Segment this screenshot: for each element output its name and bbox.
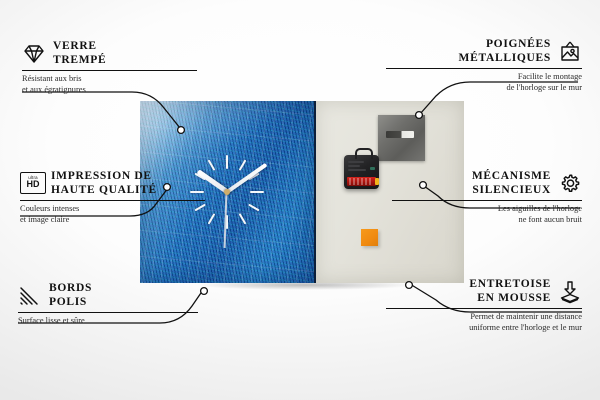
feature-title: BORDS POLIS [49, 282, 92, 309]
feature-divider [20, 200, 205, 201]
aa-battery [347, 177, 376, 186]
arrow-down-onto-pad-icon [558, 280, 582, 304]
feature-divider [392, 200, 582, 201]
diagonal-stripes-icon [18, 284, 42, 308]
feature-description: Facilite le montage de l'horloge sur le … [386, 72, 582, 93]
feature-bords-polis: BORDS POLIS Surface lisse et sûre [18, 282, 198, 327]
diamond-icon [22, 42, 46, 66]
foam-spacer [361, 229, 378, 246]
mechanism-detail [348, 165, 360, 167]
clock-minute-hand [226, 163, 268, 194]
feature-description: Les aiguilles de l'horloge ne font aucun… [392, 204, 582, 225]
clock-tick [208, 159, 247, 224]
clock-tick [208, 159, 247, 224]
feature-divider [22, 70, 197, 71]
clock-center-hub [224, 189, 230, 195]
feature-divider [386, 308, 582, 309]
mechanism-label-chip [370, 167, 375, 170]
feature-title: POIGNÉES MÉTALLIQUES [459, 38, 551, 65]
feature-divider [386, 68, 582, 69]
feature-title: ENTRETOISE EN MOUSSE [469, 278, 551, 305]
feature-divider [18, 312, 198, 313]
feature-impression-haute-qualite: ultra HD IMPRESSION DE HAUTE QUALITÉ Cou… [20, 170, 205, 225]
clock-tick [208, 159, 247, 224]
feature-description: Résistant aux bris et aux égratignures [22, 74, 197, 95]
feature-title: IMPRESSION DE HAUTE QUALITÉ [51, 170, 157, 197]
clock-second-hand [224, 192, 227, 248]
feature-description: Permet de maintenir une distance uniform… [386, 312, 582, 333]
feature-title: VERRE TREMPÉ [53, 40, 106, 67]
clock-tick [208, 159, 247, 224]
feature-mecanisme-silencieux: MÉCANISME SILENCIEUX Les aiguilles de l'… [392, 170, 582, 225]
clock-tick [226, 155, 228, 229]
feature-description: Surface lisse et sûre [18, 316, 198, 327]
picture-frame-hanger-icon [558, 40, 582, 64]
feature-description: Couleurs intenses et image claire [20, 204, 205, 225]
mechanism-hanging-loop [355, 148, 373, 159]
mechanism-detail [348, 161, 364, 163]
hanger-keyhole-slot [386, 131, 414, 138]
gear-icon [558, 172, 582, 196]
quartz-mechanism [344, 155, 379, 189]
ultra-hd-icon: ultra HD [20, 172, 44, 196]
battery-label [349, 178, 372, 185]
metal-hanger-plate [378, 115, 425, 161]
clock-tick [226, 155, 228, 229]
feature-title: MÉCANISME SILENCIEUX [472, 170, 551, 197]
infographic-canvas: VERRE TREMPÉ Résistant aux bris et aux é… [0, 0, 600, 400]
feature-verre-trempe: VERRE TREMPÉ Résistant aux bris et aux é… [22, 40, 197, 95]
feature-entretoise-en-mousse: ENTRETOISE EN MOUSSE Permet de maintenir… [386, 278, 582, 333]
feature-poignees-metalliques: POIGNÉES MÉTALLIQUES Facilite le montage… [386, 38, 582, 93]
mechanism-detail [348, 169, 366, 171]
